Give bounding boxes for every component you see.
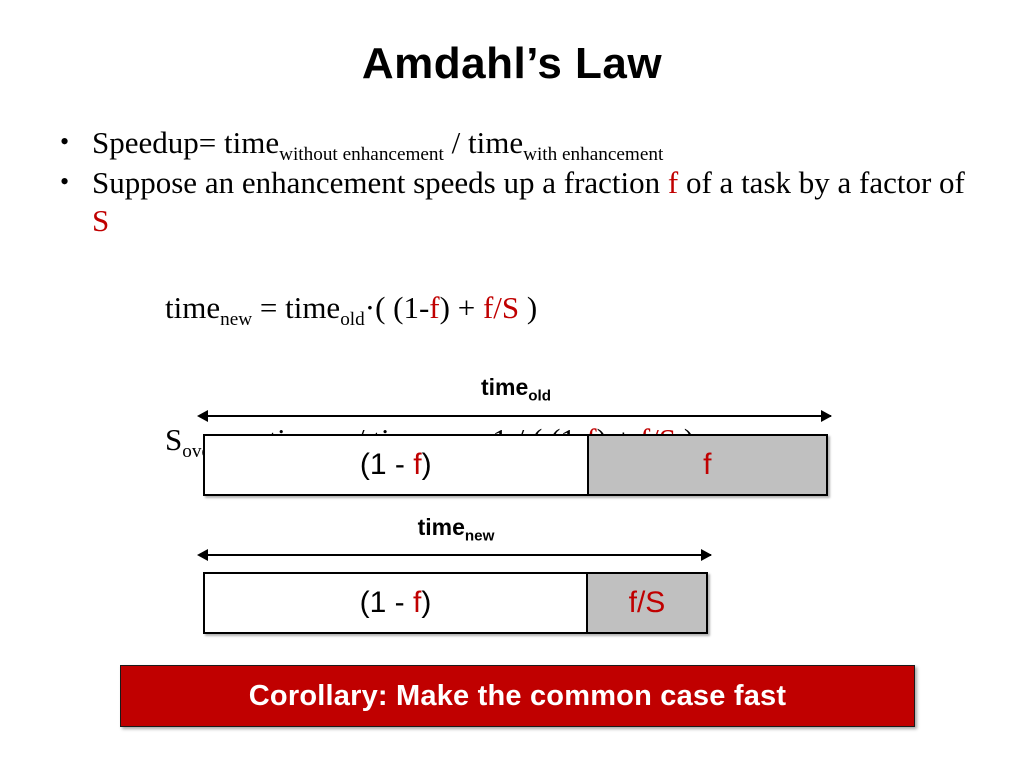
dimension-arrow-time-old <box>203 415 831 417</box>
bullet-marker-icon: • <box>60 164 69 199</box>
arrow-head-right-icon <box>701 549 712 561</box>
bullet-text-enhancement: Suppose an enhancement speeds up a fract… <box>92 165 965 238</box>
bar-segment-unenhanced-new: (1 - f) <box>205 574 586 632</box>
bar-segment-enhanced-old: f <box>587 436 826 494</box>
dimension-label-time-new-subscript: new <box>465 528 495 545</box>
bar-time-old: (1 - f) f <box>203 434 828 496</box>
corollary-banner-text: Corollary: Make the common case fast <box>249 680 786 713</box>
bar-segment-label: f <box>703 448 711 482</box>
arrow-head-left-icon <box>197 549 208 561</box>
bullet-text-speedup: Speedup= timewithout enhancement / timew… <box>92 125 663 160</box>
bar-segment-label: f/S <box>629 586 666 620</box>
dimension-label-time-new: timenew <box>418 514 495 541</box>
corollary-banner: Corollary: Make the common case fast <box>120 665 915 727</box>
arrow-head-left-icon <box>197 410 208 422</box>
arrow-head-right-icon <box>821 410 832 422</box>
page-title: Amdahl’s Law <box>0 40 1024 88</box>
dimension-label-time-old-subscript: old <box>528 388 551 405</box>
dimension-label-time-old: timeold <box>481 374 551 401</box>
bar-segment-label: (1 - f) <box>360 586 432 620</box>
bar-segment-enhanced-new: f/S <box>586 574 706 632</box>
dimension-arrow-time-new <box>203 554 711 556</box>
bar-time-new: (1 - f) f/S <box>203 572 708 634</box>
bullet-item-speedup: • Speedup= timewithout enhancement / tim… <box>52 124 982 162</box>
bar-segment-unenhanced-old: (1 - f) <box>205 436 587 494</box>
amdahl-bar-diagram: timeold (1 - f) f timenew (1 - f) f/S <box>0 374 1024 644</box>
bullet-marker-icon: • <box>60 124 69 159</box>
formula-time-new: timenew = timeold·( (1-f) + f/S ) <box>52 242 982 374</box>
formula-time-new-text: timenew = timeold·( (1-f) + f/S ) <box>165 290 537 325</box>
bar-segment-label: (1 - f) <box>360 448 432 482</box>
bullet-item-enhancement: • Suppose an enhancement speeds up a fra… <box>52 164 982 240</box>
